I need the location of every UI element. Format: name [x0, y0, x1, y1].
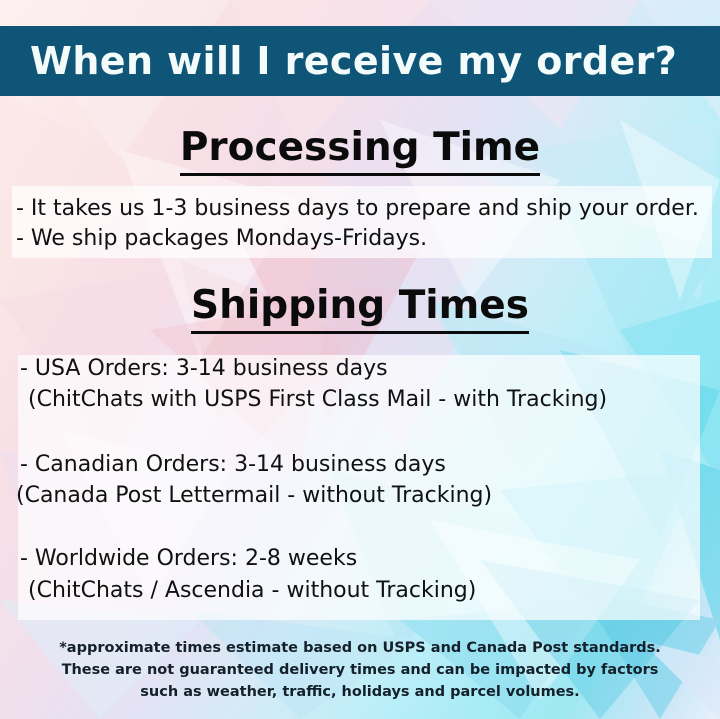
page-title: When will I receive my order? [30, 42, 677, 80]
processing-time-heading: Processing Time [0, 128, 720, 167]
shipping-usa-primary: - USA Orders: 3-14 business days [20, 356, 388, 382]
processing-time-line-2: - We ship packages Mondays-Fridays. [16, 226, 427, 252]
processing-time-heading-text: Processing Time [180, 125, 540, 176]
footnote-disclaimer: *approximate times estimate based on USP… [0, 637, 720, 703]
shipping-usa-secondary: (ChitChats with USPS First Class Mail - … [28, 387, 607, 413]
footnote-line-2: These are not guaranteed delivery times … [0, 659, 720, 681]
shipping-canada-secondary: (Canada Post Lettermail - without Tracki… [16, 483, 492, 509]
shipping-worldwide-secondary: (ChitChats / Ascendia - without Tracking… [28, 578, 476, 604]
infographic-canvas: When will I receive my order? Processing… [0, 0, 720, 719]
shipping-times-heading-text: Shipping Times [191, 283, 529, 334]
footnote-line-1: *approximate times estimate based on USP… [0, 637, 720, 659]
shipping-worldwide-primary: - Worldwide Orders: 2-8 weeks [20, 546, 357, 572]
shipping-times-heading: Shipping Times [0, 286, 720, 325]
processing-time-line-1: - It takes us 1-3 business days to prepa… [16, 196, 699, 222]
header-banner: When will I receive my order? [0, 26, 720, 96]
footnote-line-3: such as weather, traffic, holidays and p… [0, 681, 720, 703]
shipping-canada-primary: - Canadian Orders: 3-14 business days [20, 452, 446, 478]
